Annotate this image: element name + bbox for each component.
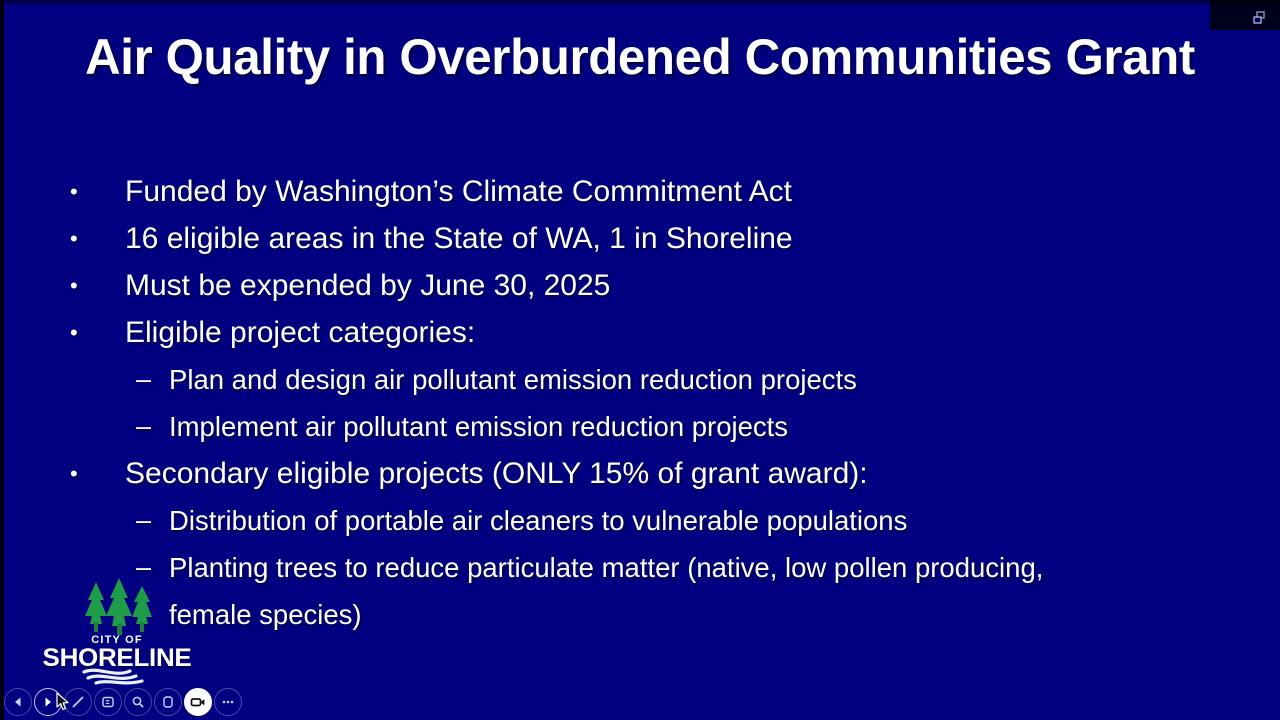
bullet-marker: • <box>70 168 125 215</box>
list-item: • Secondary eligible projects (ONLY 15% … <box>70 450 1220 497</box>
sub-list-item-text: Implement air pollutant emission reducti… <box>169 403 1129 450</box>
page-title: Air Quality in Overburdened Communities … <box>10 28 1271 86</box>
magnifier-icon <box>130 694 146 710</box>
top-letterbox-bar <box>0 0 1280 3</box>
closed-caption-icon <box>100 694 116 710</box>
previous-slide-button[interactable] <box>4 688 32 716</box>
mouse-cursor <box>56 692 70 712</box>
sub-list-item-text: Plan and design air pollutant emission r… <box>169 356 1129 403</box>
sub-list-item-text: Distribution of portable air cleaners to… <box>169 497 1129 544</box>
blank-slide-icon <box>160 694 176 710</box>
ellipsis-icon <box>220 694 236 710</box>
city-of-shoreline-logo: CITY OF SHORELINE <box>44 578 190 678</box>
restore-window-icon[interactable] <box>1252 11 1268 25</box>
list-item: • Must be expended by June 30, 2025 <box>70 262 1220 309</box>
bullet-marker: • <box>70 262 125 309</box>
more-options-button[interactable] <box>214 688 242 716</box>
dash-marker: – <box>136 403 169 450</box>
list-item-text: Funded by Washington’s Climate Commitmen… <box>125 168 1220 215</box>
subtitles-button[interactable] <box>94 688 122 716</box>
dash-marker: – <box>136 356 169 403</box>
left-letterbox-bar <box>0 0 4 720</box>
zoom-slide-button[interactable] <box>124 688 152 716</box>
video-camera-icon <box>189 694 207 710</box>
dash-marker: – <box>136 497 169 544</box>
slide-view-button[interactable] <box>154 688 182 716</box>
list-item-text: Secondary eligible projects (ONLY 15% of… <box>125 450 1220 497</box>
bullet-marker: • <box>70 450 125 497</box>
list-item: • 16 eligible areas in the State of WA, … <box>70 215 1220 262</box>
presentation-slide: Air Quality in Overburdened Communities … <box>0 0 1280 720</box>
pen-icon <box>70 694 86 710</box>
bullet-marker: • <box>70 309 125 356</box>
presenter-toolbar[interactable] <box>4 688 242 716</box>
camera-button[interactable] <box>184 688 212 716</box>
sub-list-item: – Implement air pollutant emission reduc… <box>70 403 1220 450</box>
bullet-list: • Funded by Washington’s Climate Commitm… <box>70 168 1220 638</box>
list-item-text: Eligible project categories: <box>125 309 1220 356</box>
sub-list-item: – Distribution of portable air cleaners … <box>70 497 1220 544</box>
list-item-text: 16 eligible areas in the State of WA, 1 … <box>125 215 1220 262</box>
list-item: • Eligible project categories: <box>70 309 1220 356</box>
bullet-marker: • <box>70 215 125 262</box>
triangle-right-icon <box>41 695 55 709</box>
sub-list-item: – Planting trees to reduce particulate m… <box>70 544 1220 638</box>
sub-list-item-text: Planting trees to reduce particulate mat… <box>169 544 1129 638</box>
triangle-left-icon <box>11 695 25 709</box>
list-item-text: Must be expended by June 30, 2025 <box>125 262 1220 309</box>
sub-list-item: – Plan and design air pollutant emission… <box>70 356 1220 403</box>
top-right-corner-shade <box>1210 0 1280 30</box>
list-item: • Funded by Washington’s Climate Commitm… <box>70 168 1220 215</box>
